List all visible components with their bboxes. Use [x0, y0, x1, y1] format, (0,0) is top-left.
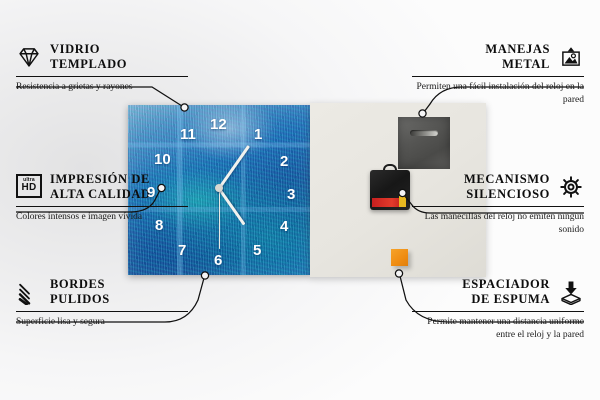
divider: [412, 206, 584, 207]
divider: [16, 206, 188, 207]
feature-espaciador-espuma[interactable]: ESPACIADOR DE ESPUMA Permite mantener un…: [412, 277, 584, 342]
feature-subtitle: Permiten una fácil instalación del reloj…: [412, 81, 584, 107]
feature-title-line1: MANEJAS: [485, 42, 550, 56]
divider: [412, 311, 584, 312]
feature-mecanismo-silencioso[interactable]: MECANISMO SILENCIOSO Las manecillas del …: [412, 172, 584, 237]
clock-numeral-7: 7: [178, 243, 186, 258]
clock-minute-hand: [218, 145, 250, 189]
gear-icon: [558, 174, 584, 200]
clock-numeral-11: 11: [180, 127, 196, 142]
clock-numeral-5: 5: [253, 243, 261, 258]
clock-second-hand: [219, 189, 221, 249]
feature-impresion-alta-calidad[interactable]: ultra HD IMPRESIÓN DE ALTA CALIDAD Color…: [16, 172, 188, 224]
feature-title-line2: TEMPLADO: [50, 57, 127, 71]
feature-heading: MANEJAS METAL: [412, 42, 584, 72]
feature-title-line1: VIDRIO: [50, 42, 100, 56]
feature-manejas-metal[interactable]: MANEJAS METAL Permiten una fácil instala…: [412, 42, 584, 107]
clock-numeral-10: 10: [154, 152, 171, 167]
clock-numeral-6: 6: [214, 253, 222, 268]
feature-heading: MECANISMO SILENCIOSO: [412, 172, 584, 202]
feature-heading: ultra HD IMPRESIÓN DE ALTA CALIDAD: [16, 172, 188, 202]
clock-numeral-9: 9: [147, 185, 155, 200]
feature-heading: VIDRIO TEMPLADO: [16, 42, 188, 72]
clock-center-cap: [215, 184, 223, 192]
feature-title-line1: BORDES: [50, 277, 105, 291]
feature-title-line1: IMPRESIÓN DE: [50, 172, 150, 186]
feature-title-line1: ESPACIADOR: [462, 277, 550, 291]
clock-numeral-8: 8: [155, 218, 163, 233]
feature-title-line2: ALTA CALIDAD: [50, 187, 151, 201]
feature-title-line1: MECANISMO: [464, 172, 550, 186]
ultra-hd-icon-main-text: HD: [21, 183, 36, 193]
feature-vidrio-templado[interactable]: VIDRIO TEMPLADO Resistencia a grietas y …: [16, 42, 188, 94]
infographic-canvas: 12 1 2 3 4 5 6 7 8 9 10 11: [0, 0, 600, 400]
clock-numeral-2: 2: [280, 154, 288, 169]
ultra-hd-icon: ultra HD: [16, 174, 42, 200]
clock-numeral-4: 4: [280, 219, 288, 234]
clock-hour-hand: [218, 188, 246, 226]
foam-spacer-pad: [391, 249, 408, 266]
picture-hanger-icon: [558, 44, 584, 70]
feature-subtitle: Resistencia a grietas y rayones: [16, 81, 188, 94]
feature-subtitle: Superficie lisa y segura: [16, 316, 188, 329]
foam-spacer-icon: [558, 279, 584, 305]
feature-title-line2: DE ESPUMA: [471, 292, 550, 306]
clock-numeral-1: 1: [254, 127, 262, 142]
divider: [412, 76, 584, 77]
hanger-keyhole-slot: [410, 130, 438, 136]
feature-bordes-pulidos[interactable]: BORDES PULIDOS Superficie lisa y segura: [16, 277, 188, 329]
feature-title-line2: PULIDOS: [50, 292, 110, 306]
clock-numeral-12: 12: [210, 117, 227, 132]
feature-subtitle: Permite mantener una distancia uniforme …: [412, 316, 584, 342]
divider: [16, 76, 188, 77]
diamond-icon: [16, 44, 42, 70]
feature-title-line2: SILENCIOSO: [466, 187, 550, 201]
battery-contact-tab: [399, 196, 406, 207]
clock-front-face: 12 1 2 3 4 5 6 7 8 9 10 11: [128, 105, 310, 275]
feature-title-line2: METAL: [502, 57, 550, 71]
feature-subtitle: Las manecillas del reloj no emiten ningú…: [412, 211, 584, 237]
divider: [16, 311, 188, 312]
feature-heading: BORDES PULIDOS: [16, 277, 188, 307]
polished-edges-icon: [16, 279, 42, 305]
metal-hanger-plate: [398, 117, 450, 169]
clock-numeral-3: 3: [287, 187, 295, 202]
feature-heading: ESPACIADOR DE ESPUMA: [412, 277, 584, 307]
